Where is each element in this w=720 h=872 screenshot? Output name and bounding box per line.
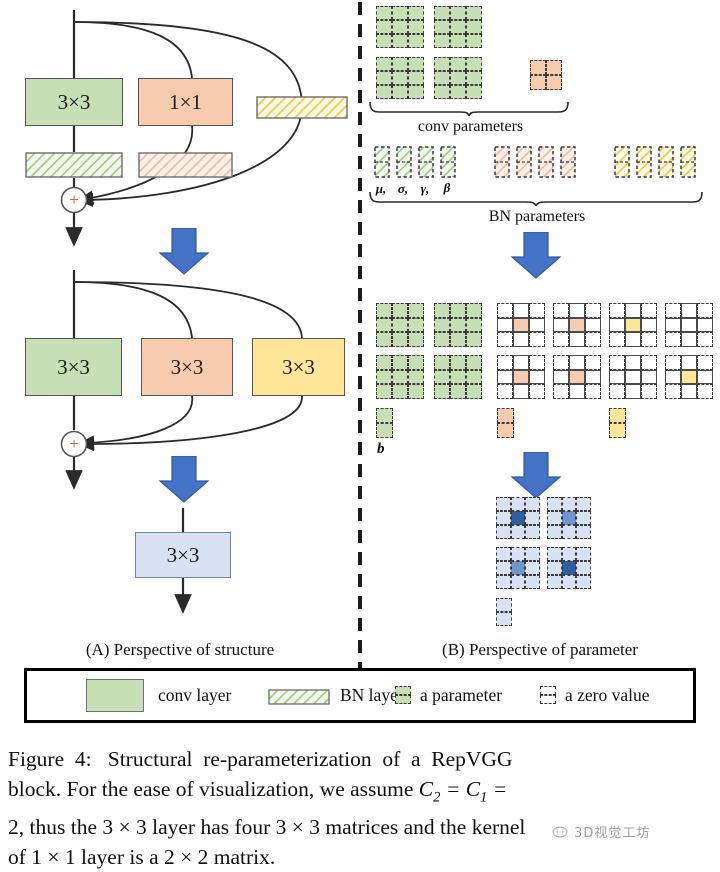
grid-cell (529, 318, 545, 333)
legend-swatch-conv (86, 679, 144, 712)
grid-cell (609, 423, 626, 438)
grid-cell (641, 355, 657, 370)
caption-l4: of 1 × 1 layer is a 2 × 2 matrix. (8, 845, 275, 869)
brace-bn-params (368, 190, 706, 206)
grid-cell (529, 332, 545, 347)
grid-cell (434, 57, 450, 71)
final-grid-blue-1 (496, 497, 540, 539)
bn-params-green-cells (374, 146, 464, 180)
caption-l1: Figure 4: Structural re-parameterization… (8, 747, 512, 771)
caption-l2: block. For the ease of visualization, we… (8, 777, 507, 801)
conv-block-3x3-final[interactable]: 3×3 (135, 532, 231, 578)
bn-params-label: BN parameters (368, 208, 706, 226)
grid-cell (376, 85, 392, 99)
bn-bar-green-top (25, 152, 123, 178)
grid-cell (497, 303, 513, 318)
grid-cell (553, 384, 569, 399)
grid-cell (497, 423, 514, 438)
grid-cell (496, 547, 511, 561)
grid-cell (497, 384, 513, 399)
grid-cell (376, 408, 393, 423)
grid-cell (562, 511, 577, 525)
merge-plus-mid: + (62, 432, 86, 456)
brace-conv-params (368, 100, 573, 116)
grid-cell (450, 303, 466, 318)
grid-cell (569, 370, 585, 385)
grid-cell (511, 511, 526, 525)
grid-cell (681, 370, 697, 385)
param-grid-green-3 (376, 57, 424, 99)
grid-cell (466, 318, 482, 333)
grid-cell (450, 57, 466, 71)
grid-cell (496, 511, 511, 525)
grid-cell (625, 370, 641, 385)
grid-cell (665, 318, 681, 333)
legend-label-parameter: a parameter (420, 685, 502, 706)
grid-cell (529, 370, 545, 385)
legend-swatch-zero (540, 686, 556, 704)
grid-cell (392, 85, 408, 99)
grid-cell (497, 318, 513, 333)
grid-cell (466, 34, 482, 48)
grid-cell (376, 34, 392, 48)
grid-cell (681, 355, 697, 370)
grid-cell (665, 370, 681, 385)
grid-cell (392, 370, 408, 385)
grid-cell (450, 6, 466, 20)
grid-cell (562, 547, 577, 561)
grid-cell (466, 370, 482, 385)
conv-block-3x3-mid-orange[interactable]: 3×3 (141, 338, 233, 396)
transform-arrow-a1 (156, 228, 212, 276)
conv-block-3x3-top[interactable]: 3×3 (25, 78, 123, 126)
grid-cell (434, 34, 450, 48)
grid-cell (408, 71, 424, 85)
grid-cell (625, 355, 641, 370)
grid-cell (540, 686, 556, 695)
grid-cell (525, 497, 540, 511)
grid-cell (392, 20, 408, 34)
grid-cell (450, 85, 466, 99)
grid-cell (392, 332, 408, 347)
grid-cell (576, 511, 591, 525)
grid-cell (496, 497, 511, 511)
legend-label-zero: a zero value (565, 685, 650, 706)
grid-cell (585, 370, 601, 385)
grid-cell (609, 355, 625, 370)
grid-cell (562, 525, 577, 539)
grid-cell (376, 355, 392, 370)
grid-cell (392, 355, 408, 370)
grid-cell (569, 318, 585, 333)
grid-cell (697, 384, 713, 399)
grid-cell (697, 370, 713, 385)
grid-cell (496, 612, 512, 626)
grid-cell (547, 511, 562, 525)
grid-cell (408, 85, 424, 99)
grid-cell (665, 355, 681, 370)
panel-divider (352, 0, 368, 700)
grid-cell (576, 497, 591, 511)
grid-cell (697, 332, 713, 347)
merge-plus-top: + (62, 188, 86, 212)
param-grid-green-2 (434, 6, 482, 48)
grid-cell (609, 370, 625, 385)
grid-cell (466, 6, 482, 20)
grid-cell (511, 575, 526, 589)
merged-grid-orange-4 (553, 355, 601, 399)
grid-cell (434, 85, 450, 99)
grid-cell (408, 303, 424, 318)
grid-cell (376, 370, 392, 385)
grid-cell (450, 318, 466, 333)
grid-cell (450, 71, 466, 85)
grid-cell (376, 6, 392, 20)
grid-cell (547, 547, 562, 561)
grid-cell (497, 332, 513, 347)
grid-cell (609, 408, 626, 423)
grid-cell (562, 497, 577, 511)
grid-cell (434, 71, 450, 85)
transform-arrow-b2 (508, 452, 564, 500)
merged-grid-orange-1 (497, 303, 545, 347)
merged-grid-green-1 (376, 303, 424, 347)
grid-cell (585, 318, 601, 333)
identity-bn-bar-top (256, 96, 348, 119)
grid-cell (496, 561, 511, 575)
grid-cell (665, 303, 681, 318)
grid-cell (553, 303, 569, 318)
bn-params-yellow-cells (614, 146, 704, 180)
grid-cell (609, 303, 625, 318)
grid-cell (513, 332, 529, 347)
watermark-text: 3D视觉工坊 (574, 826, 650, 841)
grid-cell (434, 332, 450, 347)
final-bias-vector-blue (496, 598, 512, 626)
conv-block-3x3-mid-yellow[interactable]: 3×3 (252, 338, 345, 396)
grid-cell (641, 384, 657, 399)
grid-cell (392, 71, 408, 85)
grid-cell (576, 561, 591, 575)
conv-params-label: conv parameters (368, 118, 573, 136)
grid-cell (434, 384, 450, 399)
conv-block-3x3-mid-green[interactable]: 3×3 (25, 338, 122, 396)
grid-cell (392, 318, 408, 333)
caption-l3: 2, thus the 3 × 3 layer has four 3 × 3 m… (8, 815, 525, 839)
grid-cell (576, 575, 591, 589)
grid-cell (625, 318, 641, 333)
grid-cell (392, 34, 408, 48)
grid-cell (511, 561, 526, 575)
grid-cell (450, 355, 466, 370)
grid-cell (697, 303, 713, 318)
grid-cell (395, 686, 411, 695)
grid-cell (376, 20, 392, 34)
grid-cell (376, 423, 393, 438)
grid-cell (576, 547, 591, 561)
grid-cell (525, 561, 540, 575)
grid-cell (496, 598, 512, 612)
merged-grid-yellow-3 (609, 355, 657, 399)
grid-cell (466, 384, 482, 399)
grid-cell (547, 561, 562, 575)
grid-cell (641, 303, 657, 318)
legend-swatch-bn (268, 689, 330, 705)
grid-cell (513, 370, 529, 385)
grid-cell (434, 20, 450, 34)
param-grid-green-1 (376, 6, 424, 48)
merged-grid-green-2 (434, 303, 482, 347)
grid-cell (395, 695, 411, 704)
grid-cell (408, 6, 424, 20)
grid-cell (641, 318, 657, 333)
figure-caption: Figure 4: Structural re-parameterization… (8, 744, 714, 872)
grid-cell (681, 303, 697, 318)
grid-cell (525, 525, 540, 539)
grid-cell (609, 332, 625, 347)
grid-cell (540, 695, 556, 704)
grid-cell (553, 370, 569, 385)
param-grid-green-4 (434, 57, 482, 99)
grid-cell (529, 303, 545, 318)
grid-cell (562, 575, 577, 589)
grid-cell (466, 303, 482, 318)
grid-cell (450, 20, 466, 34)
grid-cell (392, 57, 408, 71)
grid-cell (376, 318, 392, 333)
grid-cell (511, 547, 526, 561)
grid-cell (511, 497, 526, 511)
conv-block-1x1-top[interactable]: 1×1 (138, 78, 233, 126)
grid-cell (569, 303, 585, 318)
merged-grid-green-4 (434, 355, 482, 399)
bias-symbol-b: b (377, 441, 385, 458)
grid-cell (547, 525, 562, 539)
legend-swatch-parameter (395, 686, 411, 704)
grid-cell (497, 370, 513, 385)
grid-cell (466, 332, 482, 347)
grid-cell (641, 370, 657, 385)
grid-cell (546, 60, 562, 75)
merged-grid-orange-2 (553, 303, 601, 347)
grid-cell (497, 355, 513, 370)
grid-cell (681, 318, 697, 333)
grid-cell (525, 547, 540, 561)
merged-grid-yellow-1 (609, 303, 657, 347)
grid-cell (681, 332, 697, 347)
panel-a-label: (A) Perspective of structure (20, 640, 340, 660)
bias-vector-orange (497, 408, 514, 438)
grid-cell (585, 384, 601, 399)
grid-cell (641, 332, 657, 347)
grid-cell (513, 384, 529, 399)
final-grid-blue-4 (547, 547, 591, 589)
grid-cell (450, 332, 466, 347)
grid-cell (625, 303, 641, 318)
grid-cell (609, 318, 625, 333)
grid-cell (665, 332, 681, 347)
grid-cell (585, 332, 601, 347)
grid-cell (525, 575, 540, 589)
grid-cell (434, 6, 450, 20)
grid-cell (496, 575, 511, 589)
merged-grid-orange-3 (497, 355, 545, 399)
grid-cell (547, 575, 562, 589)
bias-vector-yellow (609, 408, 626, 438)
grid-cell (466, 355, 482, 370)
grid-cell (562, 561, 577, 575)
grid-cell (408, 384, 424, 399)
merged-grid-yellow-2 (665, 303, 713, 347)
grid-cell (511, 525, 526, 539)
grid-cell (392, 384, 408, 399)
grid-cell (585, 355, 601, 370)
grid-cell (497, 408, 514, 423)
grid-cell (569, 384, 585, 399)
grid-cell (434, 318, 450, 333)
grid-cell (434, 370, 450, 385)
grid-cell (392, 6, 408, 20)
grid-cell (553, 355, 569, 370)
grid-cell (697, 318, 713, 333)
final-grid-blue-2 (547, 497, 591, 539)
merged-grid-green-3 (376, 355, 424, 399)
panel-b-label: (B) Perspective of parameter (380, 640, 700, 660)
grid-cell (408, 318, 424, 333)
grid-cell (553, 318, 569, 333)
figure-root: + + 3×3 1×1 3×3 3×3 3×3 3×3 (0, 0, 720, 867)
grid-cell (376, 332, 392, 347)
grid-cell (697, 355, 713, 370)
bias-vector-green (376, 408, 393, 438)
grid-cell (376, 71, 392, 85)
bn-params-orange-cells (494, 146, 584, 180)
watermark: 3D视觉工坊 (552, 822, 650, 841)
grid-cell (525, 511, 540, 525)
legend-label-conv: conv layer (158, 685, 231, 706)
grid-cell (466, 20, 482, 34)
grid-cell (553, 332, 569, 347)
grid-cell (530, 60, 546, 75)
grid-cell (408, 332, 424, 347)
grid-cell (408, 355, 424, 370)
chat-bubble-icon (552, 826, 569, 839)
grid-cell (496, 525, 511, 539)
grid-cell (466, 71, 482, 85)
grid-cell (434, 303, 450, 318)
grid-cell (408, 20, 424, 34)
grid-cell (530, 75, 546, 90)
grid-cell (408, 370, 424, 385)
grid-cell (569, 355, 585, 370)
grid-cell (450, 370, 466, 385)
bn-bar-orange-top (138, 152, 233, 178)
grid-cell (513, 318, 529, 333)
grid-cell (681, 384, 697, 399)
grid-cell (546, 75, 562, 90)
grid-cell (408, 57, 424, 71)
grid-cell (609, 384, 625, 399)
grid-cell (450, 384, 466, 399)
grid-cell (392, 303, 408, 318)
grid-cell (376, 303, 392, 318)
grid-cell (434, 355, 450, 370)
grid-cell (665, 384, 681, 399)
final-grid-blue-3 (496, 547, 540, 589)
grid-cell (376, 384, 392, 399)
grid-cell (408, 34, 424, 48)
grid-cell (466, 57, 482, 71)
grid-cell (450, 34, 466, 48)
grid-cell (466, 85, 482, 99)
grid-cell (513, 355, 529, 370)
grid-cell (625, 332, 641, 347)
grid-cell (576, 525, 591, 539)
grid-cell (569, 332, 585, 347)
param-grid-orange-1x1 (530, 60, 562, 90)
grid-cell (585, 303, 601, 318)
grid-cell (625, 384, 641, 399)
grid-cell (529, 384, 545, 399)
transform-arrow-a2 (156, 456, 212, 504)
grid-cell (547, 497, 562, 511)
transform-arrow-b1 (508, 232, 564, 280)
merged-grid-yellow-4 (665, 355, 713, 399)
grid-cell (529, 355, 545, 370)
grid-cell (376, 57, 392, 71)
grid-cell (513, 303, 529, 318)
